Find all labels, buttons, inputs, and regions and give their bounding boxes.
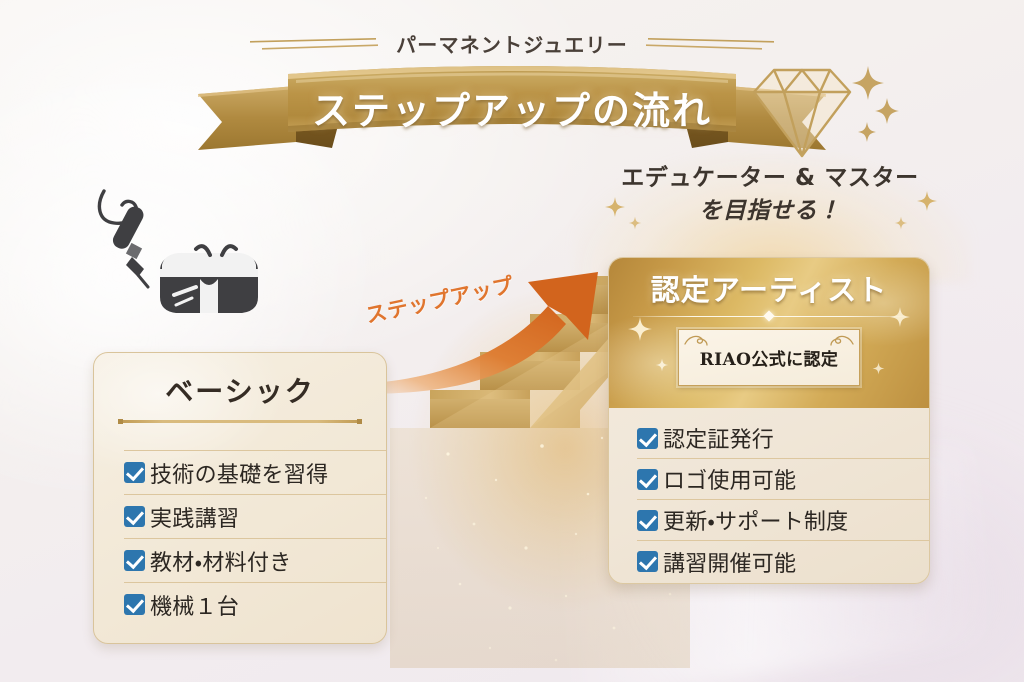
ribbon-banner: ステップアップの流れ <box>192 56 832 160</box>
certification-badge: RIAO公式に認定 <box>678 329 860 386</box>
basic-card-divider <box>119 420 361 423</box>
header-kicker-text: パーマネントジュエリー <box>396 29 628 58</box>
list-item: 講習開催可能 <box>637 541 929 582</box>
sparkle-icon <box>852 66 899 142</box>
basic-feature-list: 技術の基礎を習得 実践講習 教材・材料付き 機械１台 <box>94 450 386 626</box>
list-item-label: 技術の基礎を習得 <box>150 457 328 489</box>
certified-card-title: 認定アーティスト <box>609 258 929 309</box>
subhead-block: エデュケーター & マスター を目指せる！ <box>596 162 944 227</box>
certified-card-header: 認定アーティスト RIAO公式に認定 <box>609 258 929 408</box>
certification-badge-text: RIAO公式に認定 <box>700 345 839 370</box>
list-item: 機械１台 <box>124 582 386 626</box>
list-item-label: 講習開催可能 <box>663 546 796 578</box>
subhead-line-1: エデュケーター & マスター <box>621 165 918 191</box>
safety-goggles-icon <box>160 246 258 313</box>
diamond-icon <box>742 52 902 172</box>
basic-card-title: ベーシック <box>94 370 386 410</box>
list-item: 認定証発行 <box>637 418 929 459</box>
ribbon-shape-icon <box>192 56 832 160</box>
check-icon <box>124 462 145 483</box>
check-icon <box>637 510 658 531</box>
certified-artist-card[interactable]: 認定アーティスト RIAO公式に認定 認定証発行 <box>608 257 930 584</box>
sparkle-icon <box>889 306 911 328</box>
list-item: 教材・材料付き <box>124 538 386 582</box>
flourish-icon <box>683 333 709 347</box>
list-item-label: 教材・材料付き <box>150 545 292 577</box>
check-icon <box>637 551 658 572</box>
tool-icons-group <box>92 183 267 328</box>
flourish-icon <box>829 333 855 347</box>
certified-feature-list: 認定証発行 ロゴ使用可能 更新・サポート制度 講習開催可能 <box>609 418 929 582</box>
list-item: 更新・サポート制度 <box>637 500 929 541</box>
list-item: 実践講習 <box>124 494 386 538</box>
kicker-rule-left-icon <box>248 36 380 52</box>
welding-pen-icon <box>99 191 148 287</box>
list-item: 技術の基礎を習得 <box>124 450 386 494</box>
check-icon <box>124 506 145 527</box>
list-item-label: 機械１台 <box>150 589 239 621</box>
subhead-line-2: を目指せる！ <box>596 195 944 228</box>
list-item: ロゴ使用可能 <box>637 459 929 500</box>
infographic-canvas: パーマネントジュエリー <box>0 0 1024 682</box>
check-icon <box>637 469 658 490</box>
basic-plan-card[interactable]: ベーシック 技術の基礎を習得 実践講習 教材・材料付き 機械１台 <box>93 352 387 644</box>
list-item-label: 実践講習 <box>150 501 239 533</box>
sparkle-icon <box>655 358 669 372</box>
check-icon <box>637 428 658 449</box>
check-icon <box>124 594 145 615</box>
check-icon <box>124 550 145 571</box>
list-item-label: 更新・サポート制度 <box>663 504 848 536</box>
list-item-label: 認定証発行 <box>663 422 774 454</box>
list-item-label: ロゴ使用可能 <box>663 463 796 495</box>
kicker-rule-right-icon <box>644 36 776 52</box>
sparkle-icon <box>872 362 885 375</box>
sparkle-icon <box>627 316 653 342</box>
